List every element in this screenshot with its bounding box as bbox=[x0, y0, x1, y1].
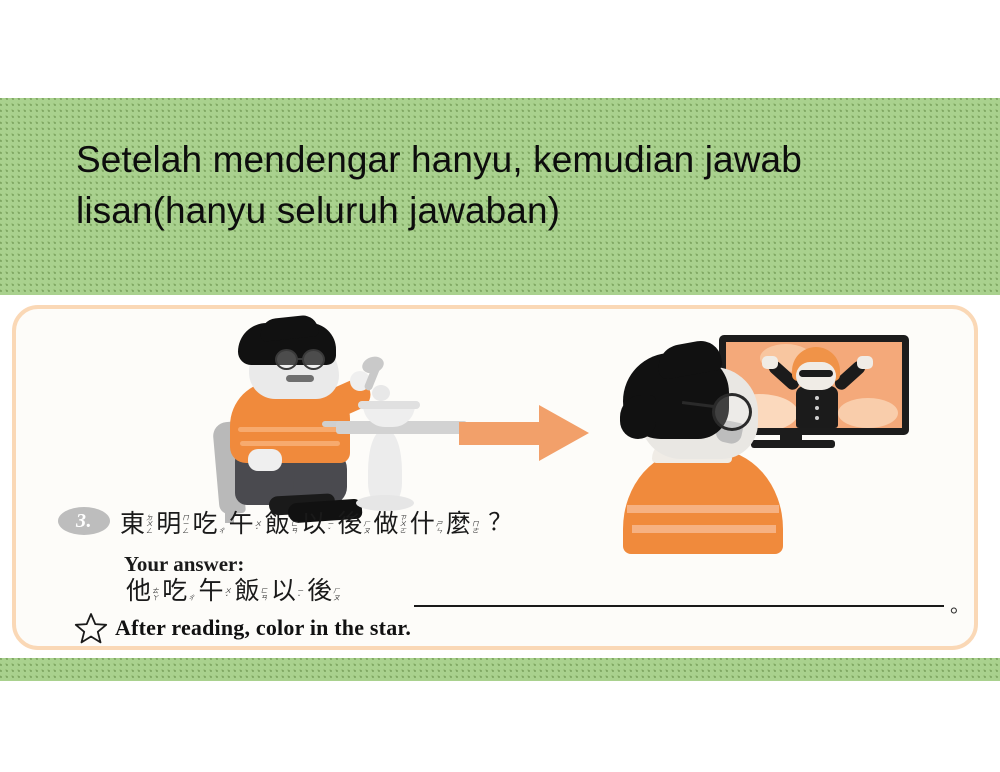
man-mouth-shape bbox=[286, 375, 314, 382]
han-character: 後 bbox=[307, 577, 332, 604]
zhuyin-annotation: ㄊㄚ bbox=[152, 588, 158, 604]
glasses-icon bbox=[275, 349, 329, 371]
tv-character-hand-right bbox=[857, 356, 873, 369]
your-answer-label: Your answer: bbox=[124, 552, 244, 577]
zhuyin-annotation: ㄏㄡ bbox=[363, 521, 369, 537]
viewer-hair-side-shape bbox=[620, 395, 656, 439]
zhuyin-annotation: ㄨˇ bbox=[224, 588, 230, 604]
answer-blank-input[interactable] bbox=[414, 605, 944, 607]
han-character: 午 bbox=[229, 510, 254, 537]
ruby-character: 後 ㄏㄡ bbox=[307, 577, 339, 604]
question-mark: ？ bbox=[488, 502, 512, 537]
star-outline-icon[interactable] bbox=[74, 612, 108, 644]
viewer-shirt-stripe-shape bbox=[627, 505, 779, 513]
worksheet-card: 3. 東 ㄉㄨㄥ 明 ㄇㄧㄥ 吃 ㄔ 午 ㄨˇ 飯 ㄈㄢ bbox=[12, 305, 978, 650]
ruby-character: 以 ㄧˇ bbox=[301, 510, 333, 537]
han-character: 飯 bbox=[235, 577, 260, 604]
man-hand-shape bbox=[248, 449, 282, 471]
table-pedestal-waist-shape bbox=[376, 449, 394, 485]
ruby-character: 後 ㄏㄡ bbox=[337, 510, 369, 537]
han-character: 以 bbox=[301, 510, 326, 537]
han-character: 飯 bbox=[265, 510, 290, 537]
zhuyin-annotation: ㄔ bbox=[188, 595, 194, 604]
arrow-shaft-shape bbox=[459, 422, 543, 445]
color-star-instruction-row: After reading, color in the star. bbox=[74, 612, 411, 644]
spoon-tip-shape bbox=[372, 385, 390, 401]
ruby-character: 做 ㄗㄨㄛ bbox=[374, 510, 406, 537]
han-character: 以 bbox=[271, 577, 296, 604]
man-sweater-stripe-shape bbox=[240, 441, 340, 446]
han-character: 午 bbox=[198, 577, 223, 604]
tv-character-button bbox=[815, 406, 819, 410]
question-line: 東 ㄉㄨㄥ 明 ㄇㄧㄥ 吃 ㄔ 午 ㄨˇ 飯 ㄈㄢ 以 ㄧˇ bbox=[120, 502, 512, 537]
han-character: 東 bbox=[120, 510, 145, 537]
ruby-character: 麼 ㄇㄜ bbox=[446, 510, 478, 537]
tv-character-hand-left bbox=[762, 356, 778, 369]
after-reading-text: After reading, color in the star. bbox=[115, 615, 411, 641]
zhuyin-annotation: ㄈㄢ bbox=[261, 588, 267, 604]
title-band: Setelah mendengar hanyu, kemudian jawab … bbox=[0, 98, 1000, 295]
answer-line: 他 ㄊㄚ 吃 ㄔ 午 ㄨˇ 飯 ㄈㄢ 以 ㄧˇ 後 ㄏㄡ bbox=[126, 577, 339, 604]
man-sweater-stripe-shape bbox=[238, 427, 342, 432]
glasses-lens-left bbox=[275, 349, 298, 370]
orange-right-arrow-icon bbox=[459, 405, 589, 461]
viewer-shirt-stripe-shape bbox=[632, 525, 776, 533]
zhuyin-annotation: ㄨˇ bbox=[255, 521, 261, 537]
zhuyin-annotation: ㄇㄧㄥ bbox=[182, 515, 188, 537]
glasses-lens-right bbox=[302, 349, 325, 370]
tv-character-eyes bbox=[799, 370, 833, 377]
tv-character-button bbox=[815, 396, 819, 400]
answer-period-mark: 。 bbox=[950, 589, 970, 618]
bottom-accent-band bbox=[0, 658, 1000, 681]
han-character: 他 bbox=[126, 577, 151, 604]
zhuyin-annotation: ㄈㄢ bbox=[291, 521, 297, 537]
question-number-badge: 3. bbox=[58, 507, 110, 535]
tv-character-button bbox=[815, 416, 819, 420]
ruby-character: 什 ㄕㄣ bbox=[410, 510, 442, 537]
ruby-character: 飯 ㄈㄢ bbox=[265, 510, 297, 537]
viewer-torso-shape bbox=[623, 449, 783, 554]
han-character: 做 bbox=[374, 510, 399, 537]
ruby-character: 飯 ㄈㄢ bbox=[235, 577, 267, 604]
ruby-character: 吃 ㄔ bbox=[162, 577, 194, 604]
zhuyin-annotation: ㄇㄜ bbox=[472, 521, 478, 537]
glasses-icon bbox=[712, 393, 752, 431]
zhuyin-annotation: ㄗㄨㄛ bbox=[400, 515, 406, 537]
ruby-character: 午 ㄨˇ bbox=[229, 510, 261, 537]
zhuyin-annotation: ㄉㄨㄥ bbox=[146, 515, 152, 537]
zhuyin-annotation: ㄧˇ bbox=[297, 588, 303, 604]
ruby-character: 明 ㄇㄧㄥ bbox=[156, 510, 188, 537]
zhuyin-annotation: ㄕㄣ bbox=[436, 521, 442, 537]
slide-canvas: Setelah mendengar hanyu, kemudian jawab … bbox=[0, 0, 1000, 772]
arrow-head-shape bbox=[539, 405, 589, 461]
zhuyin-annotation: ㄏㄡ bbox=[333, 588, 339, 604]
page-title: Setelah mendengar hanyu, kemudian jawab … bbox=[76, 134, 926, 236]
han-character: 吃 bbox=[192, 510, 217, 537]
ruby-character: 以 ㄧˇ bbox=[271, 577, 303, 604]
tv-cloud-shape bbox=[838, 398, 898, 428]
han-character: 麼 bbox=[446, 510, 471, 537]
bowl-rim-shape bbox=[358, 401, 420, 409]
han-character: 吃 bbox=[162, 577, 187, 604]
ruby-character: 午 ㄨˇ bbox=[198, 577, 230, 604]
ruby-character: 東 ㄉㄨㄥ bbox=[120, 510, 152, 537]
han-character: 什 bbox=[410, 510, 435, 537]
ruby-character: 吃 ㄔ bbox=[192, 510, 224, 537]
ruby-character: 他 ㄊㄚ bbox=[126, 577, 158, 604]
zhuyin-annotation: ㄔ bbox=[218, 528, 224, 537]
han-character: 明 bbox=[156, 510, 181, 537]
zhuyin-annotation: ㄧˇ bbox=[327, 521, 333, 537]
han-character: 後 bbox=[337, 510, 362, 537]
